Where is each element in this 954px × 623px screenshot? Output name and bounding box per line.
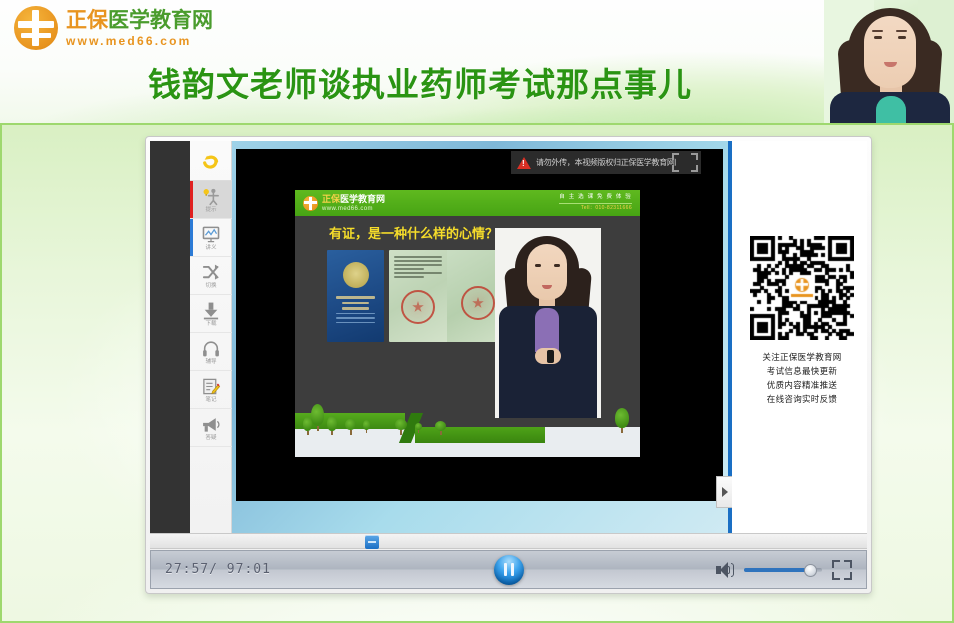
national-emblem-icon	[343, 262, 369, 288]
fullscreen-icon	[844, 572, 852, 580]
player-control-bar: 27:57/ 97:01	[150, 550, 867, 589]
warning-resize-marks	[672, 153, 698, 172]
certificate-cover-text	[336, 296, 375, 326]
red-seal-stamp-icon	[461, 286, 495, 320]
qr-caption-line: 优质内容精准推送	[738, 379, 866, 393]
volume-wave-2	[731, 563, 734, 577]
tree-icon	[395, 419, 407, 435]
tool-tutor[interactable]: 辅导	[190, 333, 232, 371]
chevron-right-icon	[722, 487, 728, 497]
fullscreen-button[interactable]	[832, 560, 852, 580]
tool-switch[interactable]: 切换	[190, 257, 232, 295]
logo-name-green: 医学教育网	[108, 9, 213, 32]
slide-presenter-eye-left	[535, 264, 541, 267]
slide-header-right: 自 主 选 课 免 费 体 验 Tell：010-82311666	[559, 194, 632, 211]
tree-icon	[415, 423, 422, 433]
tool-qa[interactable]: 答疑	[190, 409, 232, 447]
qr-code-canvas	[750, 236, 854, 340]
tool-switch-label: 切换	[205, 283, 216, 289]
portrait-eye-left	[874, 36, 882, 39]
copyright-warning-bar: 请勿外传，本视频版权归正保医学教育网所有	[511, 151, 701, 174]
slide-logo-url: www.med66.com	[322, 206, 385, 212]
page-root: 正保医学教育网 www.med66.com 钱韵文老师谈执业药师考试那点事儿	[0, 0, 954, 623]
cert-text-line	[394, 268, 424, 270]
certificate-page-left	[389, 250, 447, 342]
control-bar-right	[716, 560, 852, 580]
cert-line	[336, 322, 375, 324]
certificate-page-text	[394, 256, 442, 280]
tool-handout-label: 讲义	[205, 245, 216, 251]
tree-icon	[363, 420, 370, 433]
portrait-shirt	[876, 96, 906, 123]
player-tool-rail: 提示 讲义	[190, 141, 232, 533]
logo-cross-bar	[21, 33, 51, 38]
megaphone-icon	[201, 415, 221, 434]
slide-presenter-eye-right	[554, 264, 560, 267]
fullscreen-icon	[832, 572, 840, 580]
slide-logo-name: 正保医学教育网	[322, 195, 385, 204]
volume-slider-thumb[interactable]	[804, 564, 817, 577]
tree-icon	[311, 404, 324, 431]
slide-title: 有证，是一种什么样的心情？	[329, 223, 498, 242]
slide-header-tagline: 自 主 选 课 免 费 体 验	[559, 194, 632, 201]
pause-icon-bar	[511, 563, 514, 576]
tree-icon	[303, 417, 312, 435]
certificate-cover	[327, 250, 384, 342]
tool-hint-label: 提示	[205, 207, 216, 213]
slide-logo-text: 正保医学教育网 www.med66.com	[322, 195, 385, 212]
player-dark-margin	[150, 141, 190, 533]
tool-tutor-label: 辅导	[205, 359, 216, 365]
volume-slider[interactable]	[744, 568, 822, 572]
page-banner: 正保医学教育网 www.med66.com 钱韵文老师谈执业药师考试那点事儿	[0, 0, 954, 123]
time-display: 27:57/ 97:01	[165, 562, 271, 577]
portrait-eye-right	[898, 36, 906, 39]
presenter-portrait	[824, 0, 954, 123]
tree-icon	[327, 416, 337, 435]
certificate-inner-pages	[389, 250, 505, 342]
whiteboard-icon	[201, 225, 221, 244]
slide-header: 正保医学教育网 www.med66.com 自 主 选 课 免 费 体 验 Te…	[295, 190, 640, 216]
red-seal-stamp-icon	[401, 290, 435, 324]
corner-bl	[672, 165, 679, 172]
tree-icon	[345, 419, 356, 435]
video-player-body: 提示 讲义	[150, 141, 867, 589]
qr-side-panel: 关注正保医学教育网 考试信息最快更新 优质内容精准推送 在线咨询实时反馈	[728, 141, 867, 533]
portrait-brow-left	[872, 30, 883, 32]
cert-text-line	[394, 272, 442, 274]
idea-person-icon	[201, 187, 221, 206]
tool-notes[interactable]: 笔记	[190, 371, 232, 409]
corner-br	[691, 165, 698, 172]
qr-caption-line: 关注正保医学教育网	[738, 351, 866, 365]
corner-tl	[672, 153, 679, 160]
cert-text-line	[394, 256, 442, 258]
copyright-warning-text: 请勿外传，本视频版权归正保医学教育网所有	[536, 157, 676, 168]
logo-text-block: 正保医学教育网 www.med66.com	[66, 10, 213, 47]
tool-download-label: 下载	[205, 321, 216, 327]
corner-tr	[691, 153, 698, 160]
medical-cross-logo-icon	[14, 6, 58, 50]
progress-handle[interactable]	[365, 535, 379, 549]
cert-line	[342, 302, 369, 305]
tool-refresh[interactable]	[190, 141, 232, 181]
tool-qa-label: 答疑	[205, 435, 216, 441]
logo-url: www.med66.com	[66, 35, 213, 47]
qr-caption-line: 在线咨询实时反馈	[738, 393, 866, 407]
fullscreen-icon	[832, 560, 840, 568]
cert-line	[336, 313, 375, 315]
video-letterbox: 请勿外传，本视频版权归正保医学教育网所有	[236, 149, 723, 501]
slide-logo-orange: 正保	[322, 194, 340, 204]
volume-speaker-cone	[720, 562, 728, 578]
slide-header-divider	[559, 203, 632, 204]
slide-presenter-shirt	[535, 308, 559, 352]
logo-name-orange: 正保	[66, 9, 108, 32]
portrait-brow-right	[896, 30, 907, 32]
slide-header-phone: Tell：010-82311666	[559, 205, 632, 211]
pause-icon-bar	[504, 563, 507, 576]
cert-line	[336, 296, 375, 299]
volume-slider-fill	[744, 568, 810, 572]
tree-icon	[435, 421, 446, 435]
shuffle-icon	[201, 263, 221, 282]
cert-line	[336, 317, 375, 319]
volume-icon[interactable]	[716, 562, 734, 578]
volume-wave-1	[728, 566, 730, 574]
qr-caption-line: 考试信息最快更新	[738, 365, 866, 379]
video-player-window: 提示 讲义	[145, 136, 872, 594]
progress-bar[interactable]	[150, 533, 867, 549]
fullscreen-icon	[844, 560, 852, 568]
tool-hint[interactable]: 提示	[190, 181, 232, 219]
refresh-icon	[201, 151, 221, 170]
download-icon	[201, 301, 221, 320]
play-pause-button[interactable]	[494, 555, 524, 585]
certificate-photo	[327, 250, 505, 342]
lecture-slide: 正保医学教育网 www.med66.com 自 主 选 课 免 费 体 验 Te…	[295, 190, 640, 457]
tool-handout[interactable]: 讲义	[190, 219, 232, 257]
slide-presenter-face	[527, 244, 567, 300]
logo-name: 正保医学教育网	[66, 10, 213, 31]
portrait-face	[864, 16, 916, 88]
cert-text-line	[394, 260, 442, 262]
site-logo[interactable]: 正保医学教育网 www.med66.com	[14, 6, 213, 50]
tool-notes-label: 笔记	[205, 397, 216, 403]
cert-text-line	[394, 264, 442, 266]
panel-collapse-button[interactable]	[716, 476, 732, 508]
qr-code	[750, 236, 854, 340]
slide-logo-white: 医学教育网	[340, 194, 385, 204]
slide-footer-decoration	[295, 407, 640, 457]
slide-presenter	[495, 228, 601, 418]
slide-logo-icon	[303, 196, 318, 211]
cert-line	[342, 307, 369, 310]
warning-triangle-icon	[517, 157, 531, 169]
slide-presenter-remote	[547, 350, 554, 363]
tree-icon	[615, 408, 629, 433]
video-canvas[interactable]: 请勿外传，本视频版权归正保医学教育网所有	[232, 141, 728, 533]
cert-text-line	[394, 276, 424, 278]
notes-pen-icon	[201, 377, 221, 396]
content-stage: 提示 讲义	[0, 123, 954, 623]
headphones-icon	[201, 339, 221, 358]
page-title: 钱韵文老师谈执业药师考试那点事儿	[0, 58, 840, 106]
qr-caption: 关注正保医学教育网 考试信息最快更新 优质内容精准推送 在线咨询实时反馈	[738, 351, 866, 407]
tool-download[interactable]: 下载	[190, 295, 232, 333]
